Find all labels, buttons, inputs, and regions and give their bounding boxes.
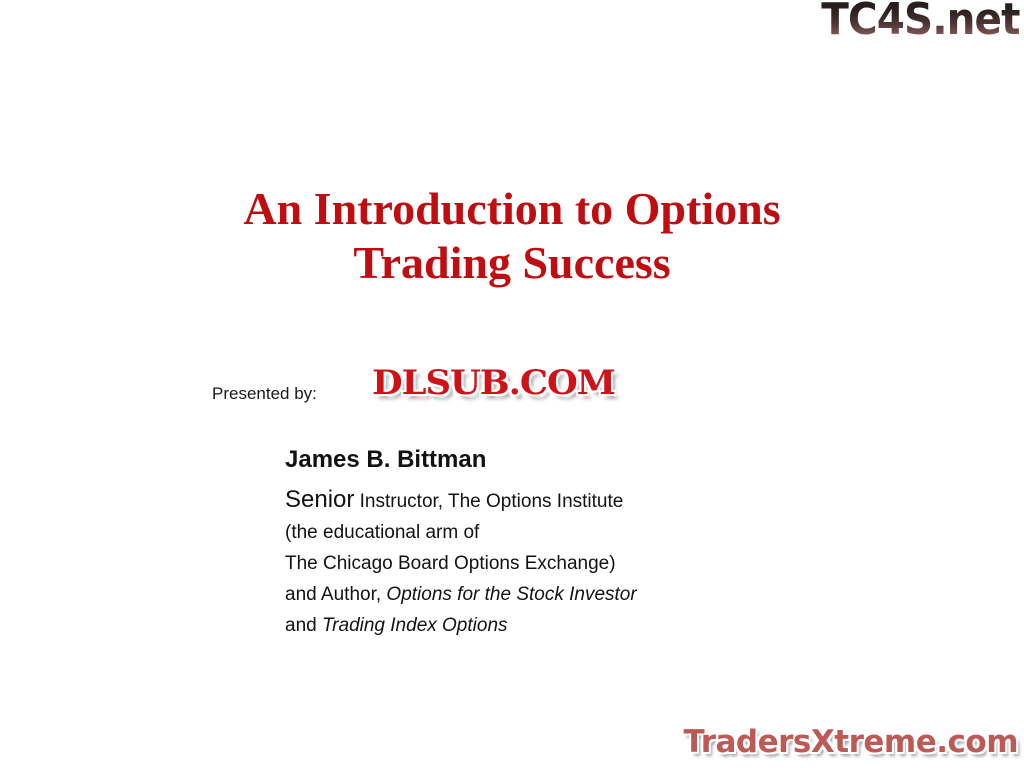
speaker-role-emphasis: Senior bbox=[285, 486, 354, 513]
speaker-author-line-2: and Trading Index Options bbox=[285, 610, 925, 641]
book-title-2: Trading Index Options bbox=[322, 615, 508, 636]
presented-by-label: Presented by: bbox=[212, 385, 317, 402]
author-prefix: and Author, bbox=[285, 584, 386, 605]
speaker-author-line-1: and Author, Options for the Stock Invest… bbox=[285, 579, 925, 610]
speaker-name: James B. Bittman bbox=[285, 444, 925, 476]
speaker-affiliation-line-2: The Chicago Board Options Exchange) bbox=[285, 548, 925, 579]
dlsub-watermark: DLSUB.COM bbox=[372, 363, 615, 403]
speaker-role: Senior Instructor, The Options Institute bbox=[285, 484, 925, 517]
presentation-title-slide: TC4S.net An Introduction to Options Trad… bbox=[0, 0, 1024, 768]
author-conjunction: and bbox=[285, 615, 322, 636]
tc4s-watermark: TC4S.net bbox=[822, 0, 1020, 42]
page-title: An Introduction to Options Trading Succe… bbox=[112, 182, 912, 290]
title-line-2: Trading Success bbox=[112, 236, 912, 290]
speaker-role-rest: Instructor, The Options Institute bbox=[354, 491, 623, 512]
tradersxtreme-watermark: TradersXtreme.com bbox=[683, 724, 1018, 760]
book-title-1: Options for the Stock Investor bbox=[386, 584, 636, 605]
title-line-1: An Introduction to Options bbox=[112, 182, 912, 236]
presented-by-row: Presented by: DLSUB.COM bbox=[212, 363, 812, 409]
speaker-bio: James B. Bittman Senior Instructor, The … bbox=[285, 444, 925, 641]
speaker-affiliation-line-1: (the educational arm of bbox=[285, 517, 925, 548]
